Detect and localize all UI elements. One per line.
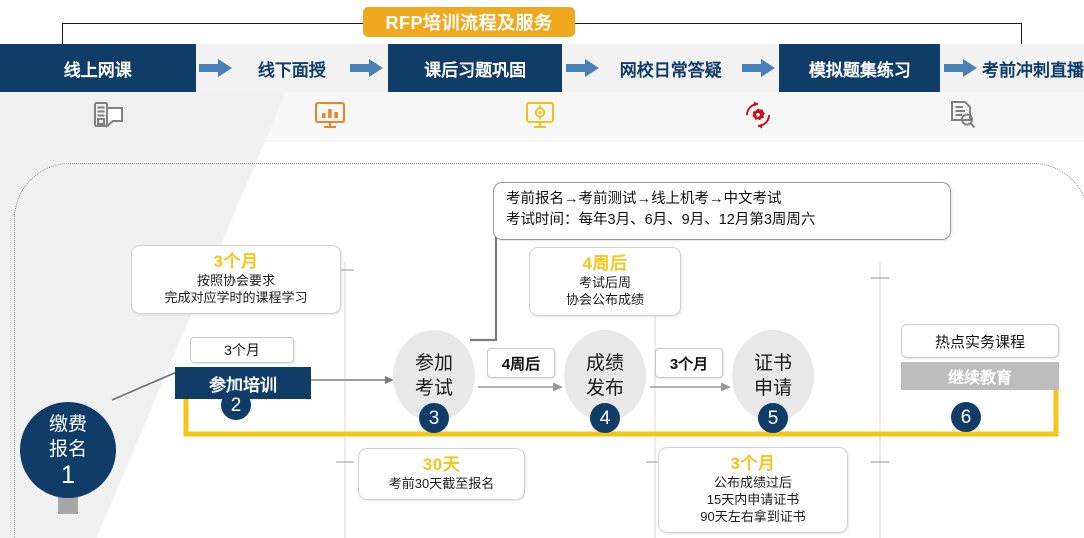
card-line: 协会公布成绩	[540, 291, 670, 308]
nav-item-label: 考前冲刺直播	[982, 56, 1084, 81]
nav-item-label: 模拟题集练习	[809, 56, 911, 81]
card-line: 90天左右拿到证书	[669, 508, 837, 525]
node-label-line-1: 参加	[415, 351, 453, 376]
card-line: 公布成绩过后	[669, 474, 837, 491]
server-monitor-icon	[86, 92, 132, 138]
node4-number-badge: 4	[590, 403, 620, 433]
nav-item-online-course[interactable]: 线上网课	[0, 44, 196, 92]
card-line: 考试后周	[540, 274, 670, 291]
card-line: 完成对应学时的课程学习	[142, 289, 330, 306]
node-label-line-2: 考试	[415, 376, 453, 401]
chip-label: 3个月	[224, 340, 260, 360]
nav-arrow-icon-2	[347, 44, 389, 92]
rfp-process-infographic: RFP培训流程及服务 线上网课 线下面授 课后习题巩固 网校日常答疑 模拟题集练…	[0, 0, 1084, 538]
card-results-duration: 4周后 考试后周 协会公布成绩	[529, 247, 681, 316]
node-number: 1	[61, 463, 75, 488]
node5-number-badge: 5	[758, 403, 788, 433]
process-flow-diagram: 考前报名→考前测试→线上机考→中文考试 考试时间：每年3月、6月、9月、12月第…	[0, 150, 1084, 538]
nav-item-label: 网校日常答疑	[620, 56, 722, 81]
card-registration-deadline: 30天 考前30天截至报名	[358, 448, 525, 500]
node-number: 6	[961, 408, 972, 427]
nav-arrow-icon-3	[562, 44, 604, 92]
card-head: 3个月	[669, 453, 837, 474]
node-label-line-2: 发布	[586, 376, 624, 401]
nav-arrow-icon-4	[738, 44, 780, 92]
node3-number-badge: 3	[419, 403, 449, 433]
card-training-duration: 3个月 按照协会要求 完成对应学时的课程学习	[131, 245, 341, 314]
nav-item-label: 线下面授	[258, 56, 326, 81]
gear-refresh-icon	[735, 92, 781, 138]
node-label-line-2: 申请	[754, 376, 792, 401]
callout-line-2: 考试时间：每年3月、6月、9月、12月第3周周六	[506, 210, 938, 231]
process-navbar: 线上网课 线下面授 课后习题巩固 网校日常答疑 模拟题集练习 考前冲刺	[0, 44, 1084, 92]
chip-training-duration: 3个月	[190, 337, 294, 363]
node-number: 2	[231, 396, 242, 415]
card-certificate-duration: 3个月 公布成绩过后 15天内申请证书 90天左右拿到证书	[658, 447, 848, 533]
service-icon-row	[0, 92, 1084, 142]
node-label-line-1: 成绩	[586, 351, 624, 376]
chip-label: 3个月	[670, 353, 708, 374]
chip-3-months: 3个月	[655, 348, 723, 378]
node-label-line-1: 缴费	[49, 412, 87, 437]
card-line: 15天内申请证书	[669, 491, 837, 508]
card-head: 30天	[369, 454, 514, 475]
node2-number-badge: 2	[221, 390, 251, 420]
node-label: 继续教育	[948, 364, 1012, 388]
node-continuing-education[interactable]: 继续教育	[901, 362, 1059, 390]
pill-label: 热点实务课程	[935, 331, 1025, 352]
nav-item-final-live[interactable]: 考前冲刺直播	[982, 44, 1084, 92]
card-head: 4周后	[540, 253, 670, 274]
nav-item-homework[interactable]: 课后习题巩固	[388, 44, 562, 92]
monitor-barchart-icon	[307, 92, 353, 138]
node-payment-registration[interactable]: 缴费 报名 1	[20, 402, 116, 498]
nav-item-label: 课后习题巩固	[424, 56, 526, 81]
document-search-icon	[938, 92, 984, 138]
node6-number-badge: 6	[951, 402, 981, 432]
node-number: 3	[429, 409, 440, 428]
nav-item-offline-class[interactable]: 线下面授	[237, 44, 346, 92]
card-head: 3个月	[142, 251, 330, 272]
exam-info-callout: 考前报名→考前测试→线上机考→中文考试 考试时间：每年3月、6月、9月、12月第…	[493, 182, 951, 240]
nav-item-qa[interactable]: 网校日常答疑	[604, 44, 738, 92]
node-label-line-2: 报名	[49, 437, 87, 462]
node-number: 4	[600, 409, 611, 428]
nav-arrow-icon-1	[196, 44, 238, 92]
callout-line-1: 考前报名→考前测试→线上机考→中文考试	[506, 189, 938, 210]
pill-hot-practical-course[interactable]: 热点实务课程	[901, 324, 1059, 358]
page-title: RFP培训流程及服务	[363, 7, 575, 37]
node-number: 5	[768, 409, 779, 428]
card-line: 考前30天截至报名	[369, 475, 514, 492]
nav-item-label: 线上网课	[64, 56, 132, 81]
chip-4-weeks-after: 4周后	[487, 348, 555, 378]
card-line: 按照协会要求	[142, 272, 330, 289]
monitor-gear-icon	[517, 92, 563, 138]
nav-arrow-icon-5	[940, 44, 982, 92]
nav-item-mock-exam[interactable]: 模拟题集练习	[779, 44, 940, 92]
chip-label: 4周后	[502, 353, 540, 374]
node-label-line-1: 证书	[754, 351, 792, 376]
